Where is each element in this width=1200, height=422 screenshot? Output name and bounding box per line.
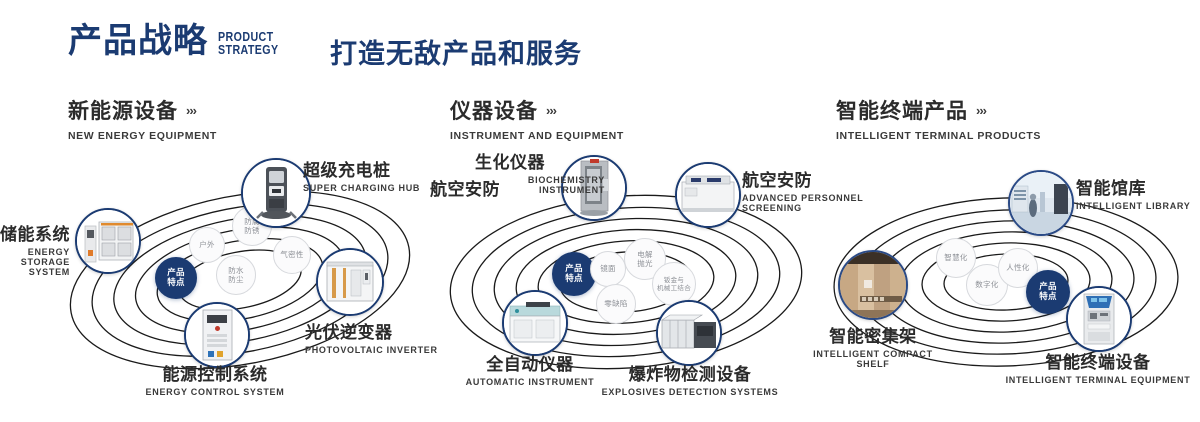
label-intelligent-compact-shelf: 智能密集架 INTELLIGENT COMPACT SHELF <box>798 322 948 369</box>
control-cabinet-icon <box>186 304 248 366</box>
automatic-analyzer-icon <box>504 292 566 354</box>
page-title-english: PRODUCT STRATEGY <box>218 30 279 56</box>
node-automatic-instrument[interactable] <box>502 290 568 356</box>
core-bubble-line2: 特点 <box>167 278 185 288</box>
node-intelligent-compact-shelf[interactable] <box>838 250 908 320</box>
feature-bubble-outdoor: 户外 <box>189 227 225 263</box>
feature-bubble-mirror-finish: 镜面 <box>590 251 626 287</box>
label-biochemistry-instrument: 生化仪器 BIOCHEMISTRY INSTRUMENT <box>475 148 605 195</box>
page-header: 产品战略 PRODUCT STRATEGY <box>68 24 292 58</box>
page-title: 产品战略 <box>68 24 208 58</box>
section-title-cn: 新能源设备 <box>68 95 178 125</box>
core-bubble-new-energy: 产品特点 <box>155 257 197 299</box>
node-energy-storage-system[interactable] <box>75 208 141 274</box>
library-room-photo-icon <box>1010 172 1072 234</box>
section-title-en: INTELLIGENT TERMINAL PRODUCTS <box>836 130 1041 142</box>
node-photovoltaic-inverter[interactable] <box>316 248 384 316</box>
section-title-en: NEW ENERGY EQUIPMENT <box>68 130 217 142</box>
section-title-en: INSTRUMENT AND EQUIPMENT <box>450 130 624 142</box>
label-intelligent-library: 智能馆库 INTELLIGENT LIBRARY <box>1076 174 1200 211</box>
poster-canvas: 产品战略 PRODUCT STRATEGY 打造无敌产品和服务 新能源设备›››… <box>0 0 1200 422</box>
compact-shelf-photo-icon <box>840 252 906 318</box>
node-energy-control-system[interactable] <box>184 302 250 368</box>
label-explosives-detection-systems: 爆炸物检测设备 EXPLOSIVES DETECTION SYSTEMS <box>570 360 810 397</box>
section-title-cn: 智能终端产品 <box>836 95 968 125</box>
chevron-right-icon: ››› <box>976 103 986 118</box>
chevron-right-icon: ››› <box>546 103 556 118</box>
label-intelligent-terminal-equipment: 智能终端设备 INTELLIGENT TERMINAL EQUIPMENT <box>988 348 1200 385</box>
node-advanced-personnel-screening[interactable] <box>675 162 741 228</box>
section-title-cn: 仪器设备 <box>450 95 538 125</box>
cluster-new-energy: 产品特点 户外 防腐防锈 防水防尘 气密性 <box>50 160 430 400</box>
section-heading-instrument: 仪器设备››› INSTRUMENT AND EQUIPMENT <box>450 95 624 142</box>
page-subtitle: 打造无敌产品和服务 <box>330 32 582 71</box>
section-heading-intelligent-terminal: 智能终端产品››› INTELLIGENT TERMINAL PRODUCTS <box>836 95 1041 142</box>
core-bubble-intelligent-terminal: 产品特点 <box>1026 270 1070 314</box>
energy-storage-cabinet-icon <box>77 210 139 272</box>
feature-bubble-airtight: 气密性 <box>273 236 311 274</box>
screening-machine-icon <box>677 164 739 226</box>
node-super-charging-hub[interactable] <box>241 158 311 228</box>
charging-pile-icon <box>243 160 309 226</box>
explosives-detector-icon <box>658 302 720 364</box>
node-intelligent-terminal-equipment[interactable] <box>1066 286 1132 352</box>
feature-bubble-waterproof: 防水防尘 <box>216 255 256 295</box>
node-explosives-detection-systems[interactable] <box>656 300 722 366</box>
self-service-kiosk-icon <box>1068 288 1130 350</box>
core-bubble-line1: 产品 <box>167 268 185 278</box>
label-energy-control-system: 能源控制系统 ENERGY CONTROL SYSTEM <box>85 360 345 397</box>
chevron-right-icon: ››› <box>186 103 196 118</box>
node-intelligent-library[interactable] <box>1008 170 1074 236</box>
core-bubble-instrument: 产品特点 <box>552 252 596 296</box>
feature-bubble-zero-defect: 零缺陷 <box>596 284 636 324</box>
section-heading-new-energy: 新能源设备››› NEW ENERGY EQUIPMENT <box>68 95 217 142</box>
cluster-instrument: 产品特点 镜面 电解抛光 钣金与机械工结合 零缺陷 航空安防 <box>430 160 820 400</box>
cluster-intelligent-terminal: 智慧化 数字化 人性化 产品特点 <box>818 160 1198 400</box>
pv-inverter-cabinet-icon <box>318 250 382 314</box>
page-title-english-line2: STRATEGY <box>218 43 279 56</box>
label-energy-storage-system: 储能系统 ENERGY STORAGE SYSTEM <box>0 220 70 277</box>
